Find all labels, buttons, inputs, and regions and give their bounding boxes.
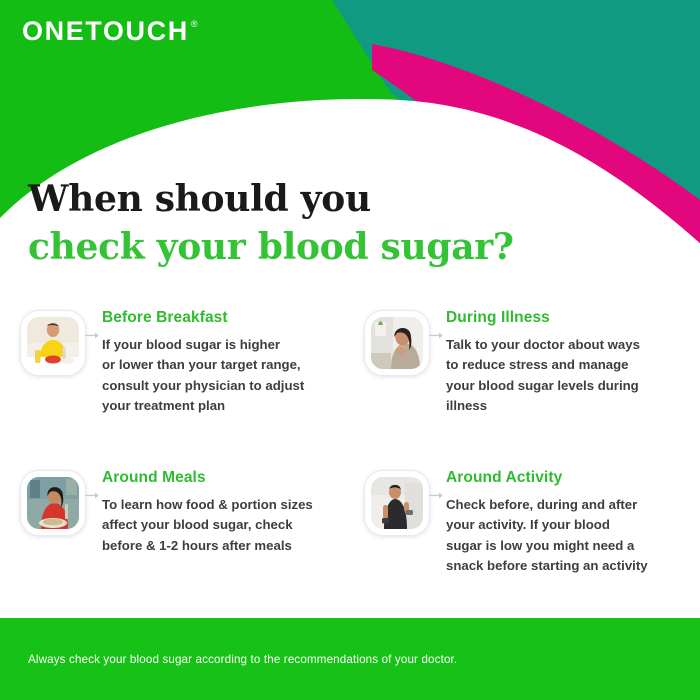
thumbnail-wrapper xyxy=(20,303,92,376)
headline-line-1: When should you xyxy=(28,175,514,223)
tip-body: Talk to your doctor about ways to reduce… xyxy=(446,335,691,417)
tip-body: Check before, during and after your acti… xyxy=(446,495,691,577)
onetouch-logo: ONETOUCH ® xyxy=(22,18,197,45)
tip-item-around-meals: Around Meals To learn how food & portion… xyxy=(20,463,360,623)
thumbnail-card xyxy=(364,310,430,376)
thumbnail-card xyxy=(20,310,86,376)
tip-body: To learn how food & portion sizes affect… xyxy=(102,495,347,556)
tip-title: Around Activity xyxy=(446,469,700,488)
man-exercising-photo xyxy=(371,477,423,529)
arrow-right-icon xyxy=(85,330,101,341)
thumbnail-card xyxy=(364,470,430,536)
logo-wordmark: ONETOUCH xyxy=(22,18,189,45)
footer-disclaimer-bar: Always check your blood sugar according … xyxy=(0,618,700,700)
woman-feeling-ill-photo xyxy=(371,317,423,369)
thumbnail-wrapper xyxy=(20,463,92,536)
registered-trademark-symbol: ® xyxy=(191,20,198,29)
tip-title: Around Meals xyxy=(102,469,360,488)
man-eating-breakfast-photo xyxy=(27,317,79,369)
tip-title: During Illness xyxy=(446,309,700,328)
tip-body: If your blood sugar is higher or lower t… xyxy=(102,335,347,417)
footer-disclaimer-text: Always check your blood sugar according … xyxy=(0,653,457,666)
tip-text-block: During Illness Talk to your doctor about… xyxy=(446,303,700,416)
arrow-right-icon xyxy=(429,330,445,341)
thumbnail-wrapper xyxy=(364,463,436,536)
arrow-right-icon xyxy=(429,490,445,501)
tip-text-block: Before Breakfast If your blood sugar is … xyxy=(102,303,360,416)
tip-text-block: Around Activity Check before, during and… xyxy=(446,463,700,576)
arrow-right-icon xyxy=(85,490,101,501)
headline-line-2: check your blood sugar? xyxy=(28,223,514,271)
tips-grid: Before Breakfast If your blood sugar is … xyxy=(0,303,700,623)
woman-eating-meal-photo xyxy=(27,477,79,529)
tip-title: Before Breakfast xyxy=(102,309,360,328)
tip-item-during-illness: During Illness Talk to your doctor about… xyxy=(364,303,700,463)
tip-text-block: Around Meals To learn how food & portion… xyxy=(102,463,360,556)
infographic-poster: ONETOUCH ® When should you check your bl… xyxy=(0,0,700,700)
headline: When should you check your blood sugar? xyxy=(28,175,514,271)
thumbnail-card xyxy=(20,470,86,536)
thumbnail-wrapper xyxy=(364,303,436,376)
tip-item-before-breakfast: Before Breakfast If your blood sugar is … xyxy=(20,303,360,463)
tip-item-around-activity: Around Activity Check before, during and… xyxy=(364,463,700,623)
